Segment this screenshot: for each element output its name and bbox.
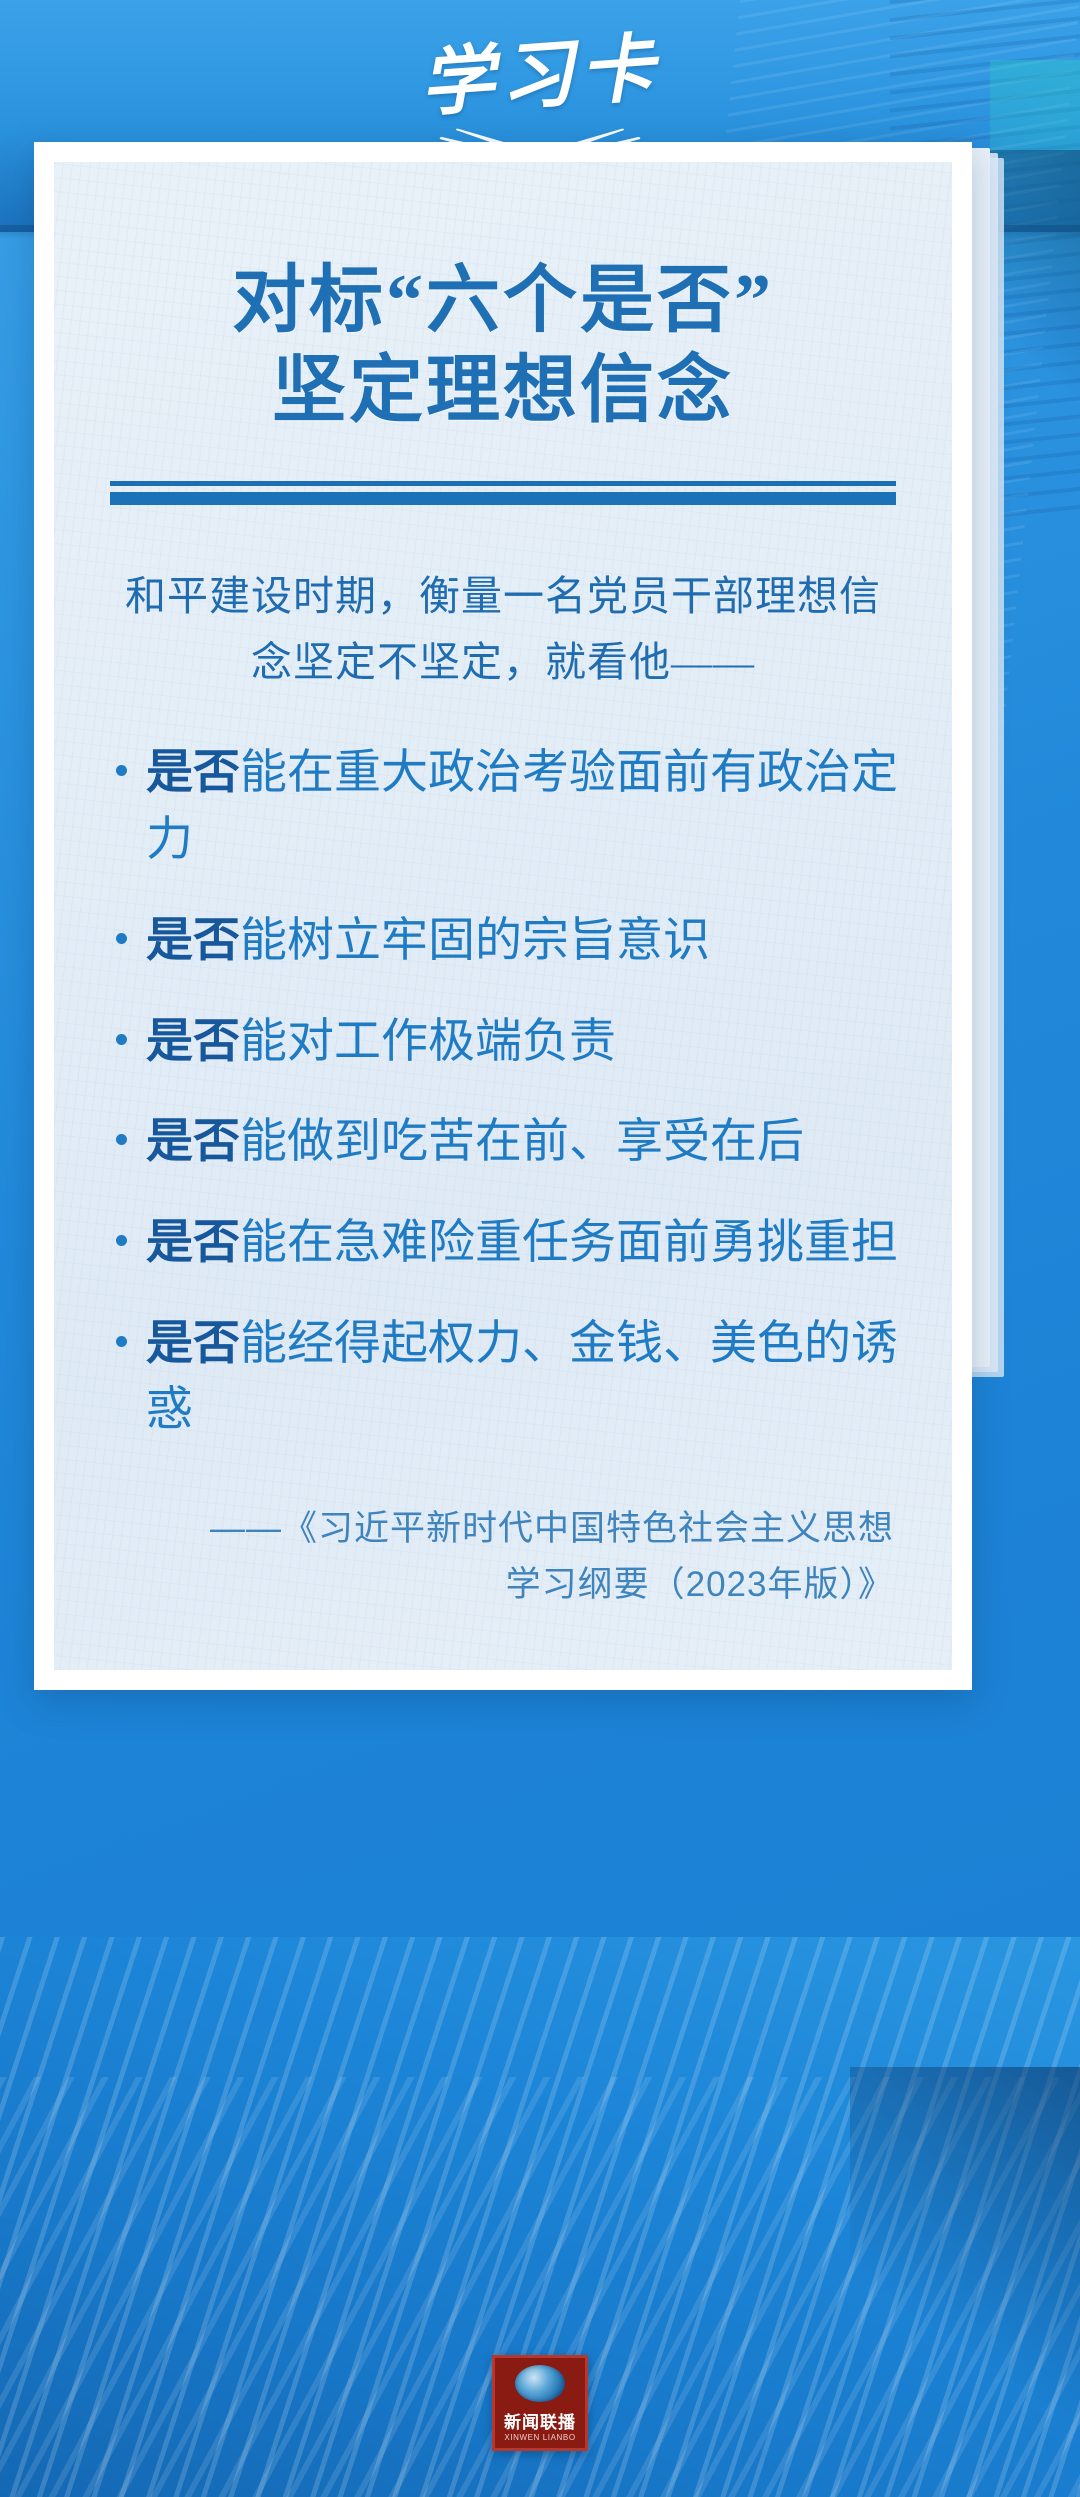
source-attribution: ——《习近平新时代中国特色社会主义思想 学习纲要（2023年版）》 [112,1501,894,1612]
title-divider [110,481,896,505]
intro-paragraph: 和平建设时期，衡量一名党员干部理想信念坚定不坚定，就看他—— [124,563,882,696]
source-attribution-line-2: 学习纲要（2023年版）》 [112,1557,894,1612]
list-item: 是否能做到吃苦在前、享受在后 [106,1108,900,1175]
divider-rule-thick [110,492,896,505]
list-item: 是否能经得起权力、金钱、美色的诱惑 [106,1310,900,1443]
source-attribution-line-1: ——《习近平新时代中国特色社会主义思想 [112,1501,894,1556]
list-item-keyword: 是否 [146,1014,240,1067]
list-item: 是否能在急难险重任务面前勇挑重担 [106,1209,900,1276]
criteria-list: 是否能在重大政治考验面前有政治定力 是否能树立牢固的宗旨意识 是否能对工作极端负… [106,739,900,1443]
list-item-keyword: 是否 [146,745,240,798]
list-item-text: 能做到吃苦在前、享受在后 [240,1114,804,1167]
list-item-text: 能经得起权力、金钱、美色的诱惑 [146,1316,898,1436]
badge-title-en: XINWEN LIANBO [504,2434,575,2442]
list-item-keyword: 是否 [146,1114,240,1167]
list-item-keyword: 是否 [146,1316,240,1369]
brand-logo-text: 学习卡 [373,29,707,126]
page-title: 对标“六个是否” 坚定理想信念 [106,210,900,437]
list-item-keyword: 是否 [146,1215,240,1268]
list-item-text: 能在急难险重任务面前勇挑重担 [240,1215,898,1268]
badge-title-cn: 新闻联播 [504,2414,576,2431]
xinwen-lianbo-badge: 新闻联播 XINWEN LIANBO [492,2355,588,2451]
list-item-keyword: 是否 [146,913,240,966]
list-item-text: 能树立牢固的宗旨意识 [240,913,710,966]
list-item: 是否能对工作极端负责 [106,1008,900,1075]
globe-icon [515,2365,565,2402]
study-card: 对标“六个是否” 坚定理想信念 和平建设时期，衡量一名党员干部理想信念坚定不坚定… [34,142,972,1690]
list-item-text: 能在重大政治考验面前有政治定力 [146,745,898,865]
list-item: 是否能在重大政治考验面前有政治定力 [106,739,900,872]
footer: 新闻联播 XINWEN LIANBO [0,2355,1080,2451]
list-item-text: 能对工作极端负责 [240,1014,616,1067]
page-title-line-2: 坚定理想信念 [106,346,900,436]
list-item: 是否能树立牢固的宗旨意识 [106,907,900,974]
card-paper: 对标“六个是否” 坚定理想信念 和平建设时期，衡量一名党员干部理想信念坚定不坚定… [54,162,952,1670]
page-title-line-1: 对标“六个是否” [106,256,900,346]
card-stack: 对标“六个是否” 坚定理想信念 和平建设时期，衡量一名党员干部理想信念坚定不坚定… [34,142,1046,1690]
